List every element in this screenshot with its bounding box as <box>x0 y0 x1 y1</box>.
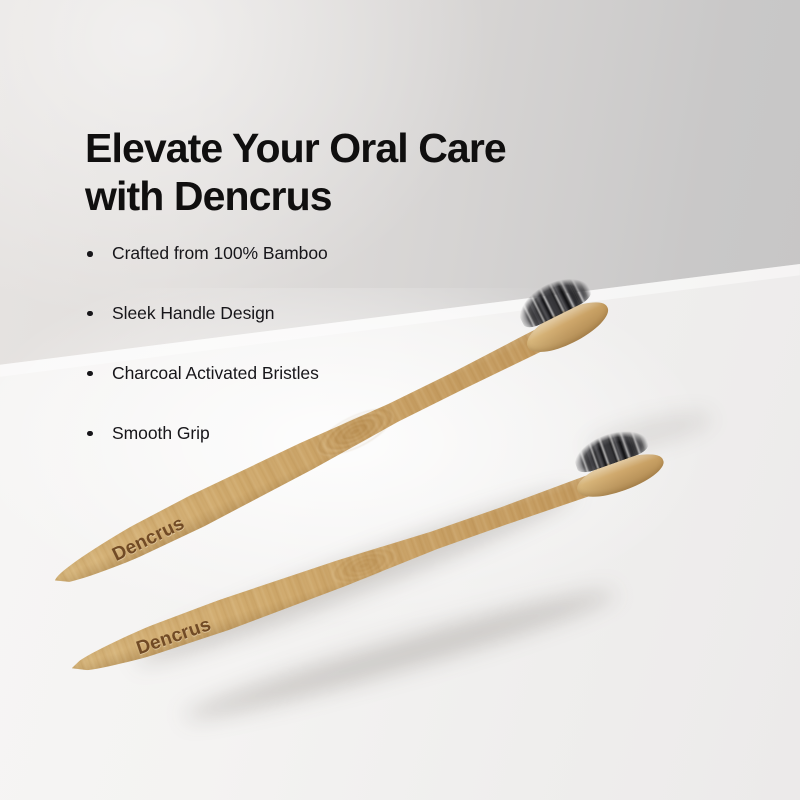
page-title: Elevate Your Oral Care with Dencrus <box>85 124 645 221</box>
product-promo-image: Elevate Your Oral Care with Dencrus Craf… <box>0 0 800 800</box>
list-item: Sleek Handle Design <box>85 303 515 325</box>
list-item: Crafted from 100% Bamboo <box>85 243 515 265</box>
